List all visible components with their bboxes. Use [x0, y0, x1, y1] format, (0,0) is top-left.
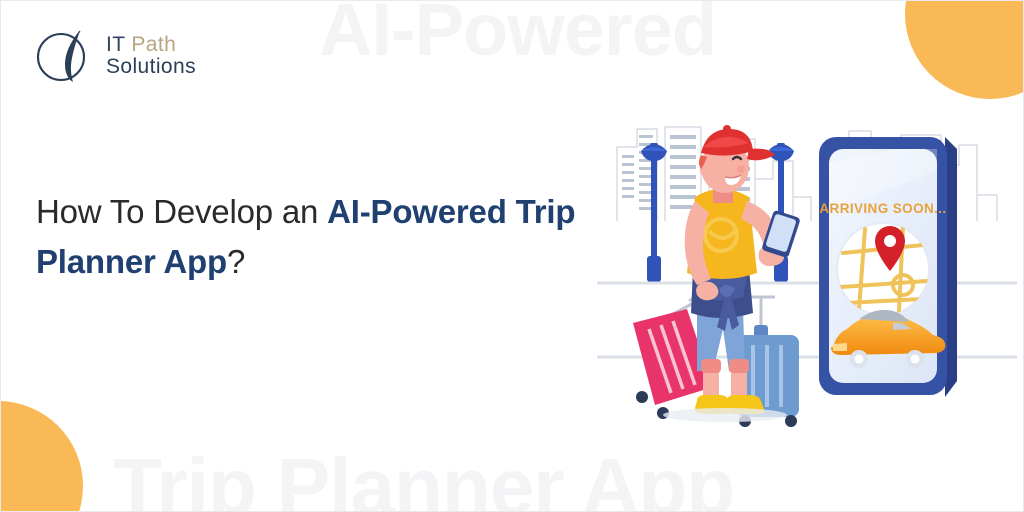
headline-plain-suffix: ? [227, 243, 245, 280]
street-lamp-left [641, 143, 667, 282]
decorative-circle-top-right [905, 0, 1024, 99]
headline-plain-prefix: How To Develop an [36, 193, 327, 230]
map-widget [837, 223, 929, 315]
brand-logo[interactable]: IT Path Solutions [35, 25, 196, 87]
brand-name-line2: Solutions [106, 56, 196, 78]
brand-name-path: Path [131, 33, 176, 56]
it-path-solutions-logo-icon [35, 25, 97, 87]
brand-name-line1: IT Path [106, 34, 196, 56]
watermark-bottom: Trip Planner App [113, 441, 734, 512]
brand-logo-text: IT Path Solutions [106, 34, 196, 78]
page-title: How To Develop an AI-Powered Trip Planne… [36, 187, 636, 287]
brand-name-it: IT [106, 33, 125, 56]
watermark-top: AI-Powered [319, 0, 716, 72]
phone-status-text: ARRIVING SOON... [819, 201, 946, 216]
decorative-circle-bottom-left [0, 401, 83, 512]
smartphone-device: ARRIVING SOON... [819, 137, 957, 397]
banner-root: AI-Powered Trip Planner App IT Path Solu… [0, 0, 1024, 512]
hero-illustration: ARRIVING SOON... [597, 101, 1017, 431]
